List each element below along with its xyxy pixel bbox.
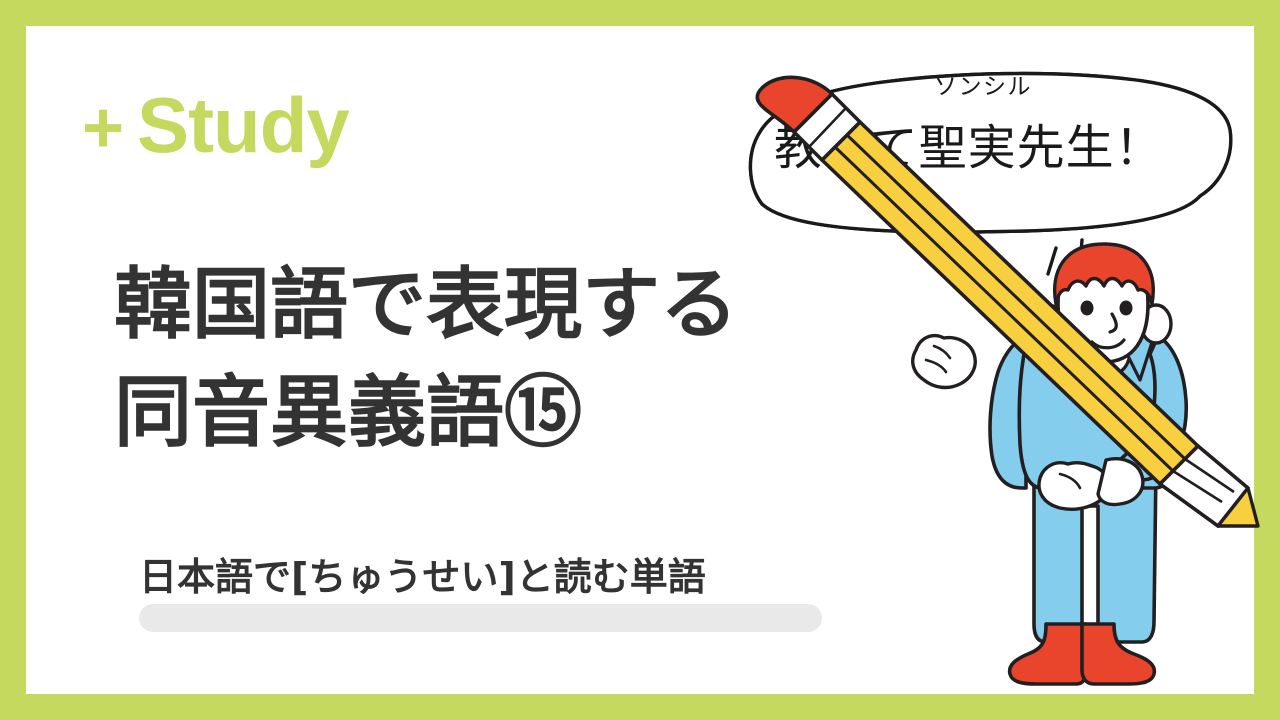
plus-icon: + bbox=[82, 92, 123, 164]
subtitle-text: 日本語で[ちゅうせい]と読む単語 bbox=[139, 555, 706, 601]
page-title: 韓国語で表現する 同音異義語⑮ bbox=[114, 252, 814, 467]
content-card: + Study 韓国語で表現する 同音異義語⑮ 日本語で[ちゅうせい]と読む単語… bbox=[26, 26, 1254, 694]
brand-logo: + Study bbox=[82, 86, 349, 164]
title-line-2: 同音異義語⑮ bbox=[114, 360, 814, 468]
brand-label: Study bbox=[137, 86, 349, 164]
speech-bubble-furigana: ソンシル bbox=[934, 74, 1032, 100]
illustration: ソンシル 教えて聖実先生！ bbox=[726, 36, 1266, 696]
title-line-1: 韓国語で表現する bbox=[114, 252, 814, 360]
subtitle-highlight-bar bbox=[139, 604, 822, 632]
